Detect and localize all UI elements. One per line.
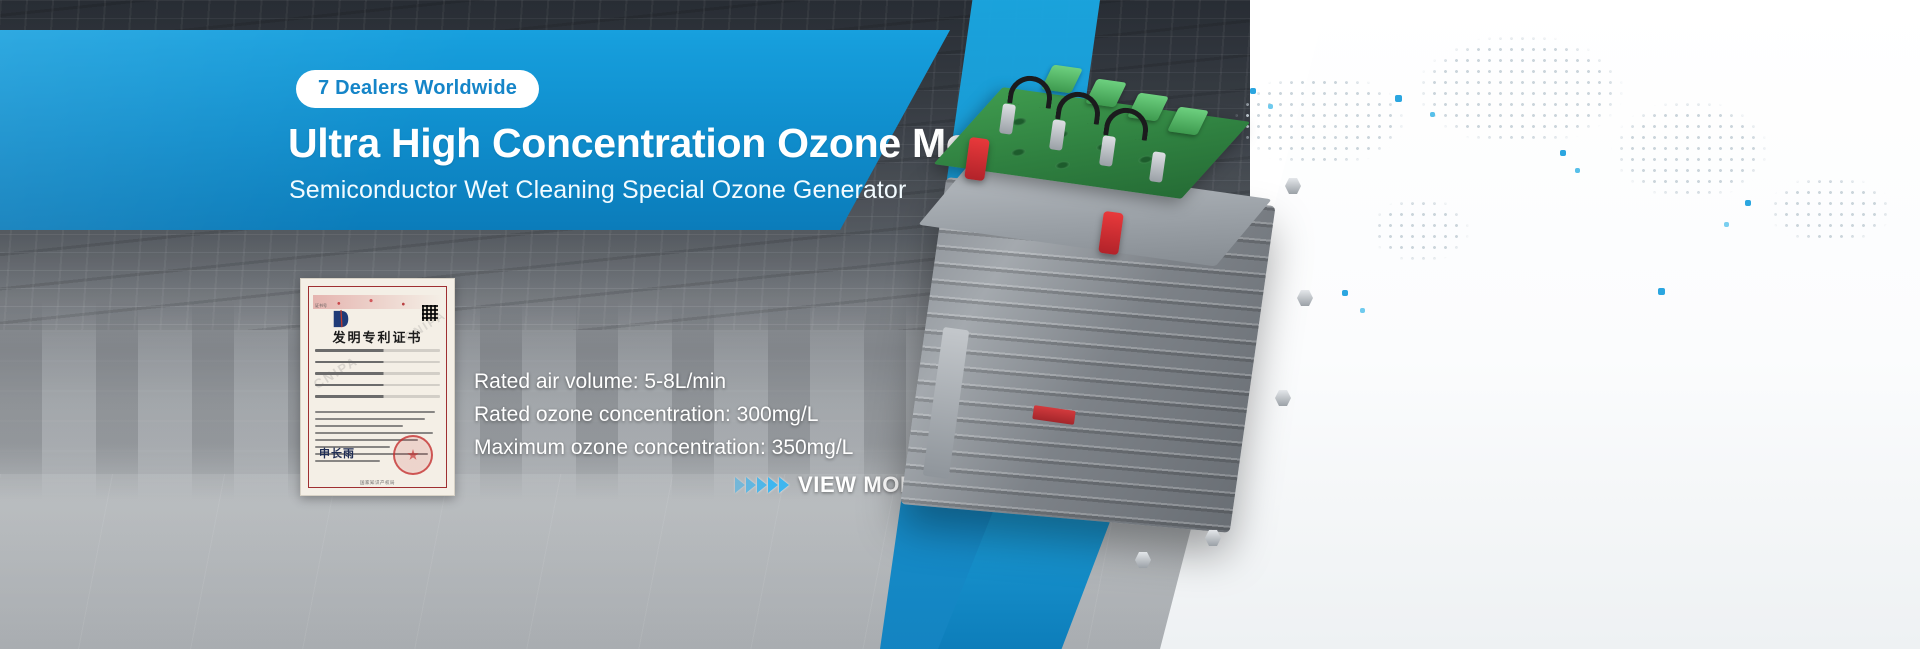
pcb-hole — [1053, 160, 1073, 170]
map-dot-accent — [1745, 200, 1751, 206]
hex-bolt-icon — [1297, 290, 1313, 306]
spec-list: Rated air volume: 5-8L/min Rated ozone c… — [474, 365, 853, 464]
hex-bolt-icon — [1285, 178, 1301, 194]
pcb-hole — [1008, 148, 1028, 158]
hex-bolt-icon — [1205, 530, 1221, 546]
product-image — [905, 60, 1345, 620]
hex-bolt-icon — [1135, 552, 1151, 568]
certificate-meta: 证书号 — [315, 303, 327, 309]
map-dot-accent — [1560, 150, 1566, 156]
map-dot-accent — [1360, 308, 1365, 313]
certificate-fields — [315, 349, 440, 407]
chevron-right-icon — [757, 477, 767, 493]
map-dot-accent — [1575, 168, 1580, 173]
chevron-right-icon — [746, 477, 756, 493]
chevron-right-icon — [768, 477, 778, 493]
map-dot-accent — [1724, 222, 1729, 227]
spec-item: Maximum ozone concentration: 350mg/L — [474, 431, 853, 464]
certificate-footer: 国家知识产权局 — [301, 480, 454, 486]
map-dot-accent — [1395, 95, 1402, 102]
chevron-right-icon — [735, 477, 745, 493]
map-dot-accent — [1430, 112, 1435, 117]
hex-bolt-icon — [1275, 390, 1291, 406]
patent-logo-icon — [330, 309, 352, 329]
official-seal-icon — [393, 435, 433, 475]
certificate-signature: 申长雨 — [319, 445, 355, 461]
map-dot-accent — [1658, 288, 1665, 295]
chevron-right-icon — [779, 477, 789, 493]
spec-item: Rated ozone concentration: 300mg/L — [474, 398, 853, 431]
hero-banner: 7 Dealers Worldwide Ultra High Concentra… — [0, 0, 1920, 649]
chevron-right-icon-group — [735, 477, 789, 493]
page-subtitle: Semiconductor Wet Cleaning Special Ozone… — [289, 176, 906, 205]
dealers-badge: 7 Dealers Worldwide — [296, 70, 539, 108]
patent-certificate-image: 证书号 发明专利证书 CNIPA CNIPA 申长雨 国家知识产权局 — [300, 278, 455, 496]
spec-item: Rated air volume: 5-8L/min — [474, 365, 853, 398]
